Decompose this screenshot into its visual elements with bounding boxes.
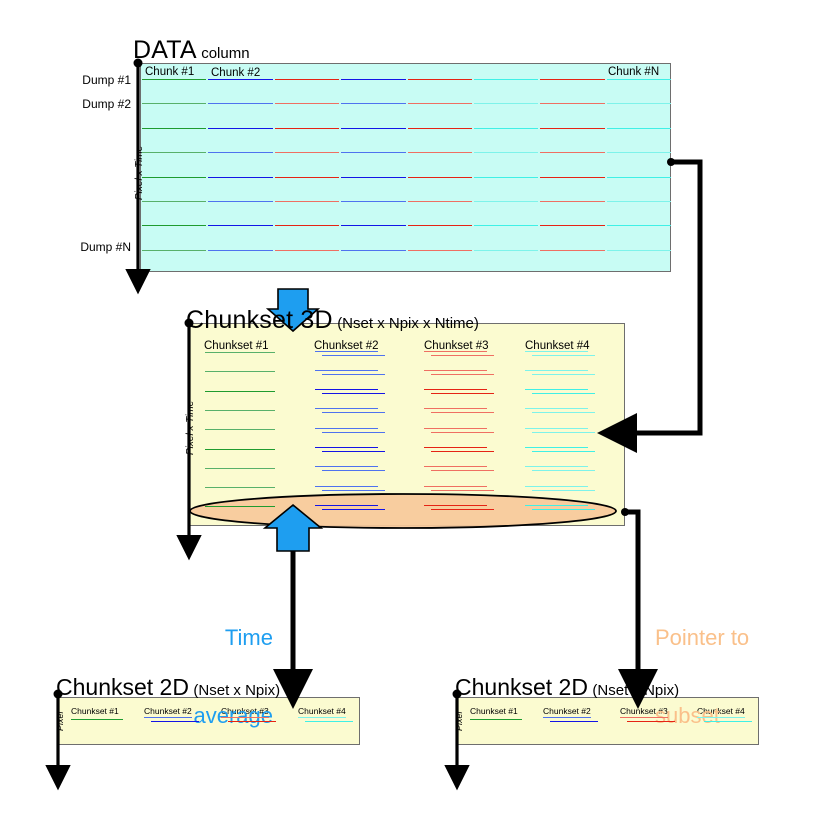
data-line-segment (697, 717, 745, 718)
data-line-segment (627, 721, 675, 722)
data-line-segment (550, 721, 598, 722)
diagram-canvas: DATA column Chunkset 3D (Nset x Npix x N… (0, 0, 816, 816)
data-line-segment (543, 717, 591, 718)
data-line-segment (620, 717, 668, 718)
data-line-segment (704, 721, 752, 722)
chunkset2d-right-segments-layer (0, 0, 816, 816)
data-line-segment (470, 719, 522, 720)
